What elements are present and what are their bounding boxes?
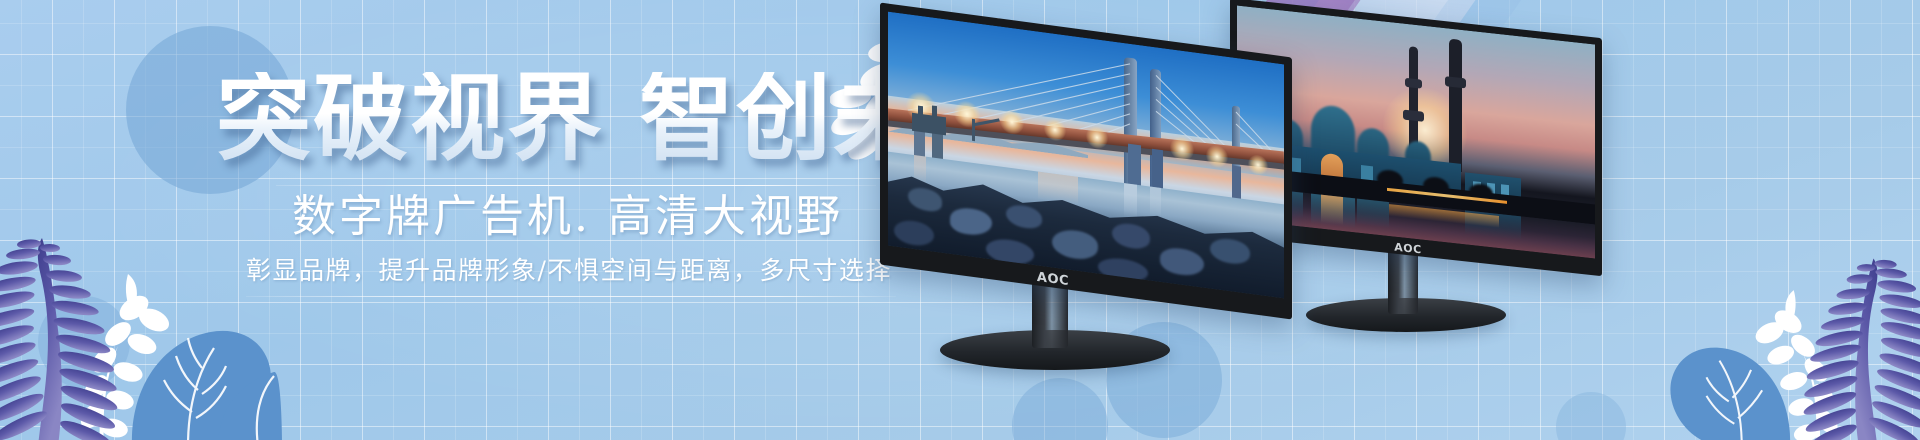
- divider-bottom: [246, 296, 896, 297]
- monitor-left[interactable]: AOC: [880, 18, 1350, 438]
- product-showcase: AOC: [880, 0, 1920, 440]
- promo-banner: 突破视界 智创未来 数字牌广告机. 高清大视野 彰显品牌，提升品牌形象/不惧空间…: [0, 0, 1920, 440]
- subtitle: 数字牌广告机. 高清大视野: [292, 190, 843, 244]
- tagline: 彰显品牌，提升品牌形象/不惧空间与距离，多尺寸选择: [246, 255, 892, 288]
- banner-copy: 突破视界 智创未来 数字牌广告机. 高清大视野 彰显品牌，提升品牌形象/不惧空间…: [0, 0, 900, 440]
- divider-top: [276, 185, 876, 186]
